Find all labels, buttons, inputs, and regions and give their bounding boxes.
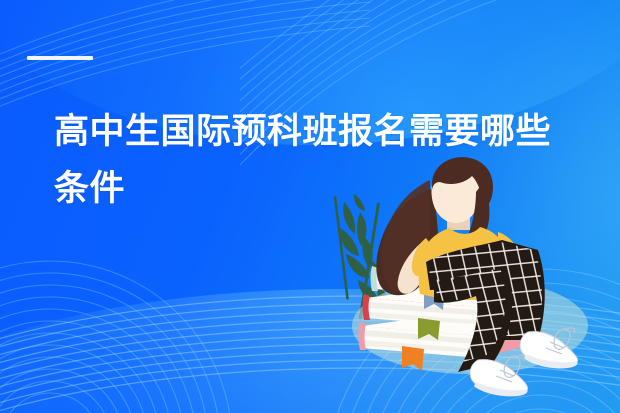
illustration-svg bbox=[330, 150, 620, 413]
promo-banner: 高中生国际预科班报名需要哪些条件 bbox=[0, 0, 620, 413]
accent-rule bbox=[27, 56, 93, 60]
illustration-woman-sitting-on-books bbox=[330, 150, 620, 413]
